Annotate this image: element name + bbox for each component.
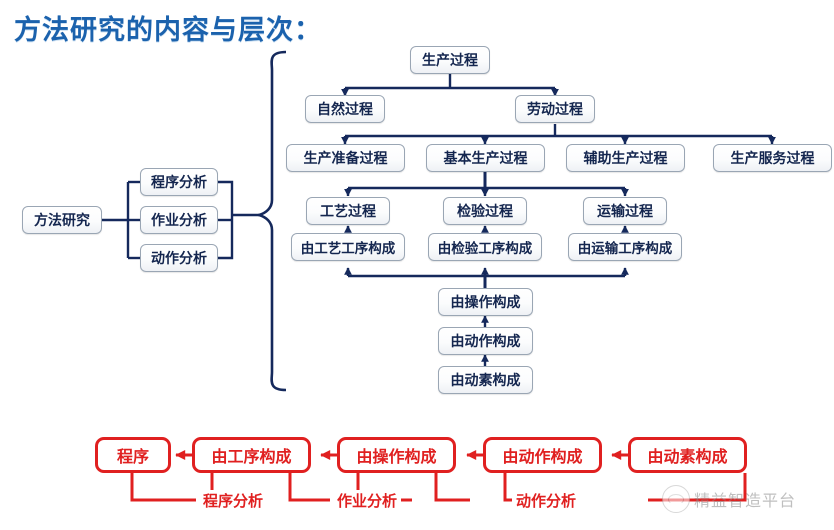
node-process-analysis[interactable]: 程序分析: [140, 168, 218, 196]
node-production-process[interactable]: 生产过程: [410, 46, 490, 74]
red-node-label: 由动素构成: [647, 443, 727, 467]
node-technology-process[interactable]: 工艺过程: [306, 197, 390, 225]
node-natural-process[interactable]: 自然过程: [305, 95, 385, 123]
node-labor-process[interactable]: 劳动过程: [515, 95, 595, 123]
node-production-service[interactable]: 生产服务过程: [713, 144, 832, 172]
node-label: 检验过程: [457, 201, 513, 221]
node-transport-process[interactable]: 运输过程: [583, 197, 667, 225]
red-node-composed-of-therbligs[interactable]: 由动素构成: [628, 437, 747, 473]
watermark-text: 精益智造平台: [694, 487, 796, 511]
node-composed-of-operations[interactable]: 由操作构成: [438, 288, 533, 316]
node-label: 由动作构成: [451, 331, 521, 351]
red-node-composed-of-motions[interactable]: 由动作构成: [483, 437, 602, 473]
watermark-logo-icon: [662, 485, 690, 513]
node-label: 辅助生产过程: [584, 148, 668, 168]
node-label: 生产过程: [422, 50, 478, 70]
node-label: 动作分析: [151, 248, 207, 268]
node-motion-analysis[interactable]: 动作分析: [140, 244, 218, 272]
node-composed-inspection-operations[interactable]: 由检验工序构成: [428, 233, 542, 261]
node-label: 由动素构成: [451, 370, 521, 390]
node-label: 方法研究: [34, 210, 90, 230]
page-title: 方法研究的内容与层次：: [14, 8, 322, 47]
node-composed-tech-operations[interactable]: 由工艺工序构成: [291, 233, 405, 261]
node-composed-transport-operations[interactable]: 由运输工序构成: [568, 233, 682, 261]
red-node-composed-of-operations[interactable]: 由操作构成: [337, 437, 456, 473]
node-label: 由检验工序构成: [438, 237, 533, 257]
node-label: 基本生产过程: [444, 148, 528, 168]
node-label: 由操作构成: [451, 292, 521, 312]
node-label: 劳动过程: [527, 99, 583, 119]
red-node-label: 程序: [117, 443, 149, 467]
node-method-research[interactable]: 方法研究: [22, 206, 102, 234]
red-node-procedure[interactable]: 程序: [95, 437, 171, 473]
node-auxiliary-production[interactable]: 辅助生产过程: [566, 144, 685, 172]
red-label-process-analysis: 程序分析: [199, 490, 267, 511]
watermark: 精益智造平台: [662, 485, 796, 513]
node-basic-production[interactable]: 基本生产过程: [426, 144, 545, 172]
red-label-operation-analysis: 作业分析: [333, 490, 401, 511]
red-node-label: 由操作构成: [356, 443, 436, 467]
node-label: 程序分析: [151, 172, 207, 192]
node-label: 工艺过程: [320, 201, 376, 221]
node-label: 由工艺工序构成: [301, 237, 396, 257]
node-label: 由运输工序构成: [578, 237, 673, 257]
node-label: 生产准备过程: [304, 148, 388, 168]
node-label: 生产服务过程: [731, 148, 815, 168]
node-composed-of-motions[interactable]: 由动作构成: [438, 327, 533, 355]
red-node-label: 由工序构成: [211, 443, 291, 467]
node-production-preparation[interactable]: 生产准备过程: [286, 144, 405, 172]
node-label: 作业分析: [151, 210, 207, 230]
node-inspection-process[interactable]: 检验过程: [443, 197, 527, 225]
red-label-motion-analysis: 动作分析: [512, 490, 580, 511]
node-composed-of-therbligs[interactable]: 由动素构成: [438, 366, 533, 394]
node-label: 运输过程: [597, 201, 653, 221]
red-node-label: 由动作构成: [502, 443, 582, 467]
node-operation-analysis[interactable]: 作业分析: [140, 206, 218, 234]
node-label: 自然过程: [317, 99, 373, 119]
red-node-composed-of-operations-seq[interactable]: 由工序构成: [192, 437, 311, 473]
diagram-canvas: 方法研究的内容与层次：: [0, 0, 834, 530]
